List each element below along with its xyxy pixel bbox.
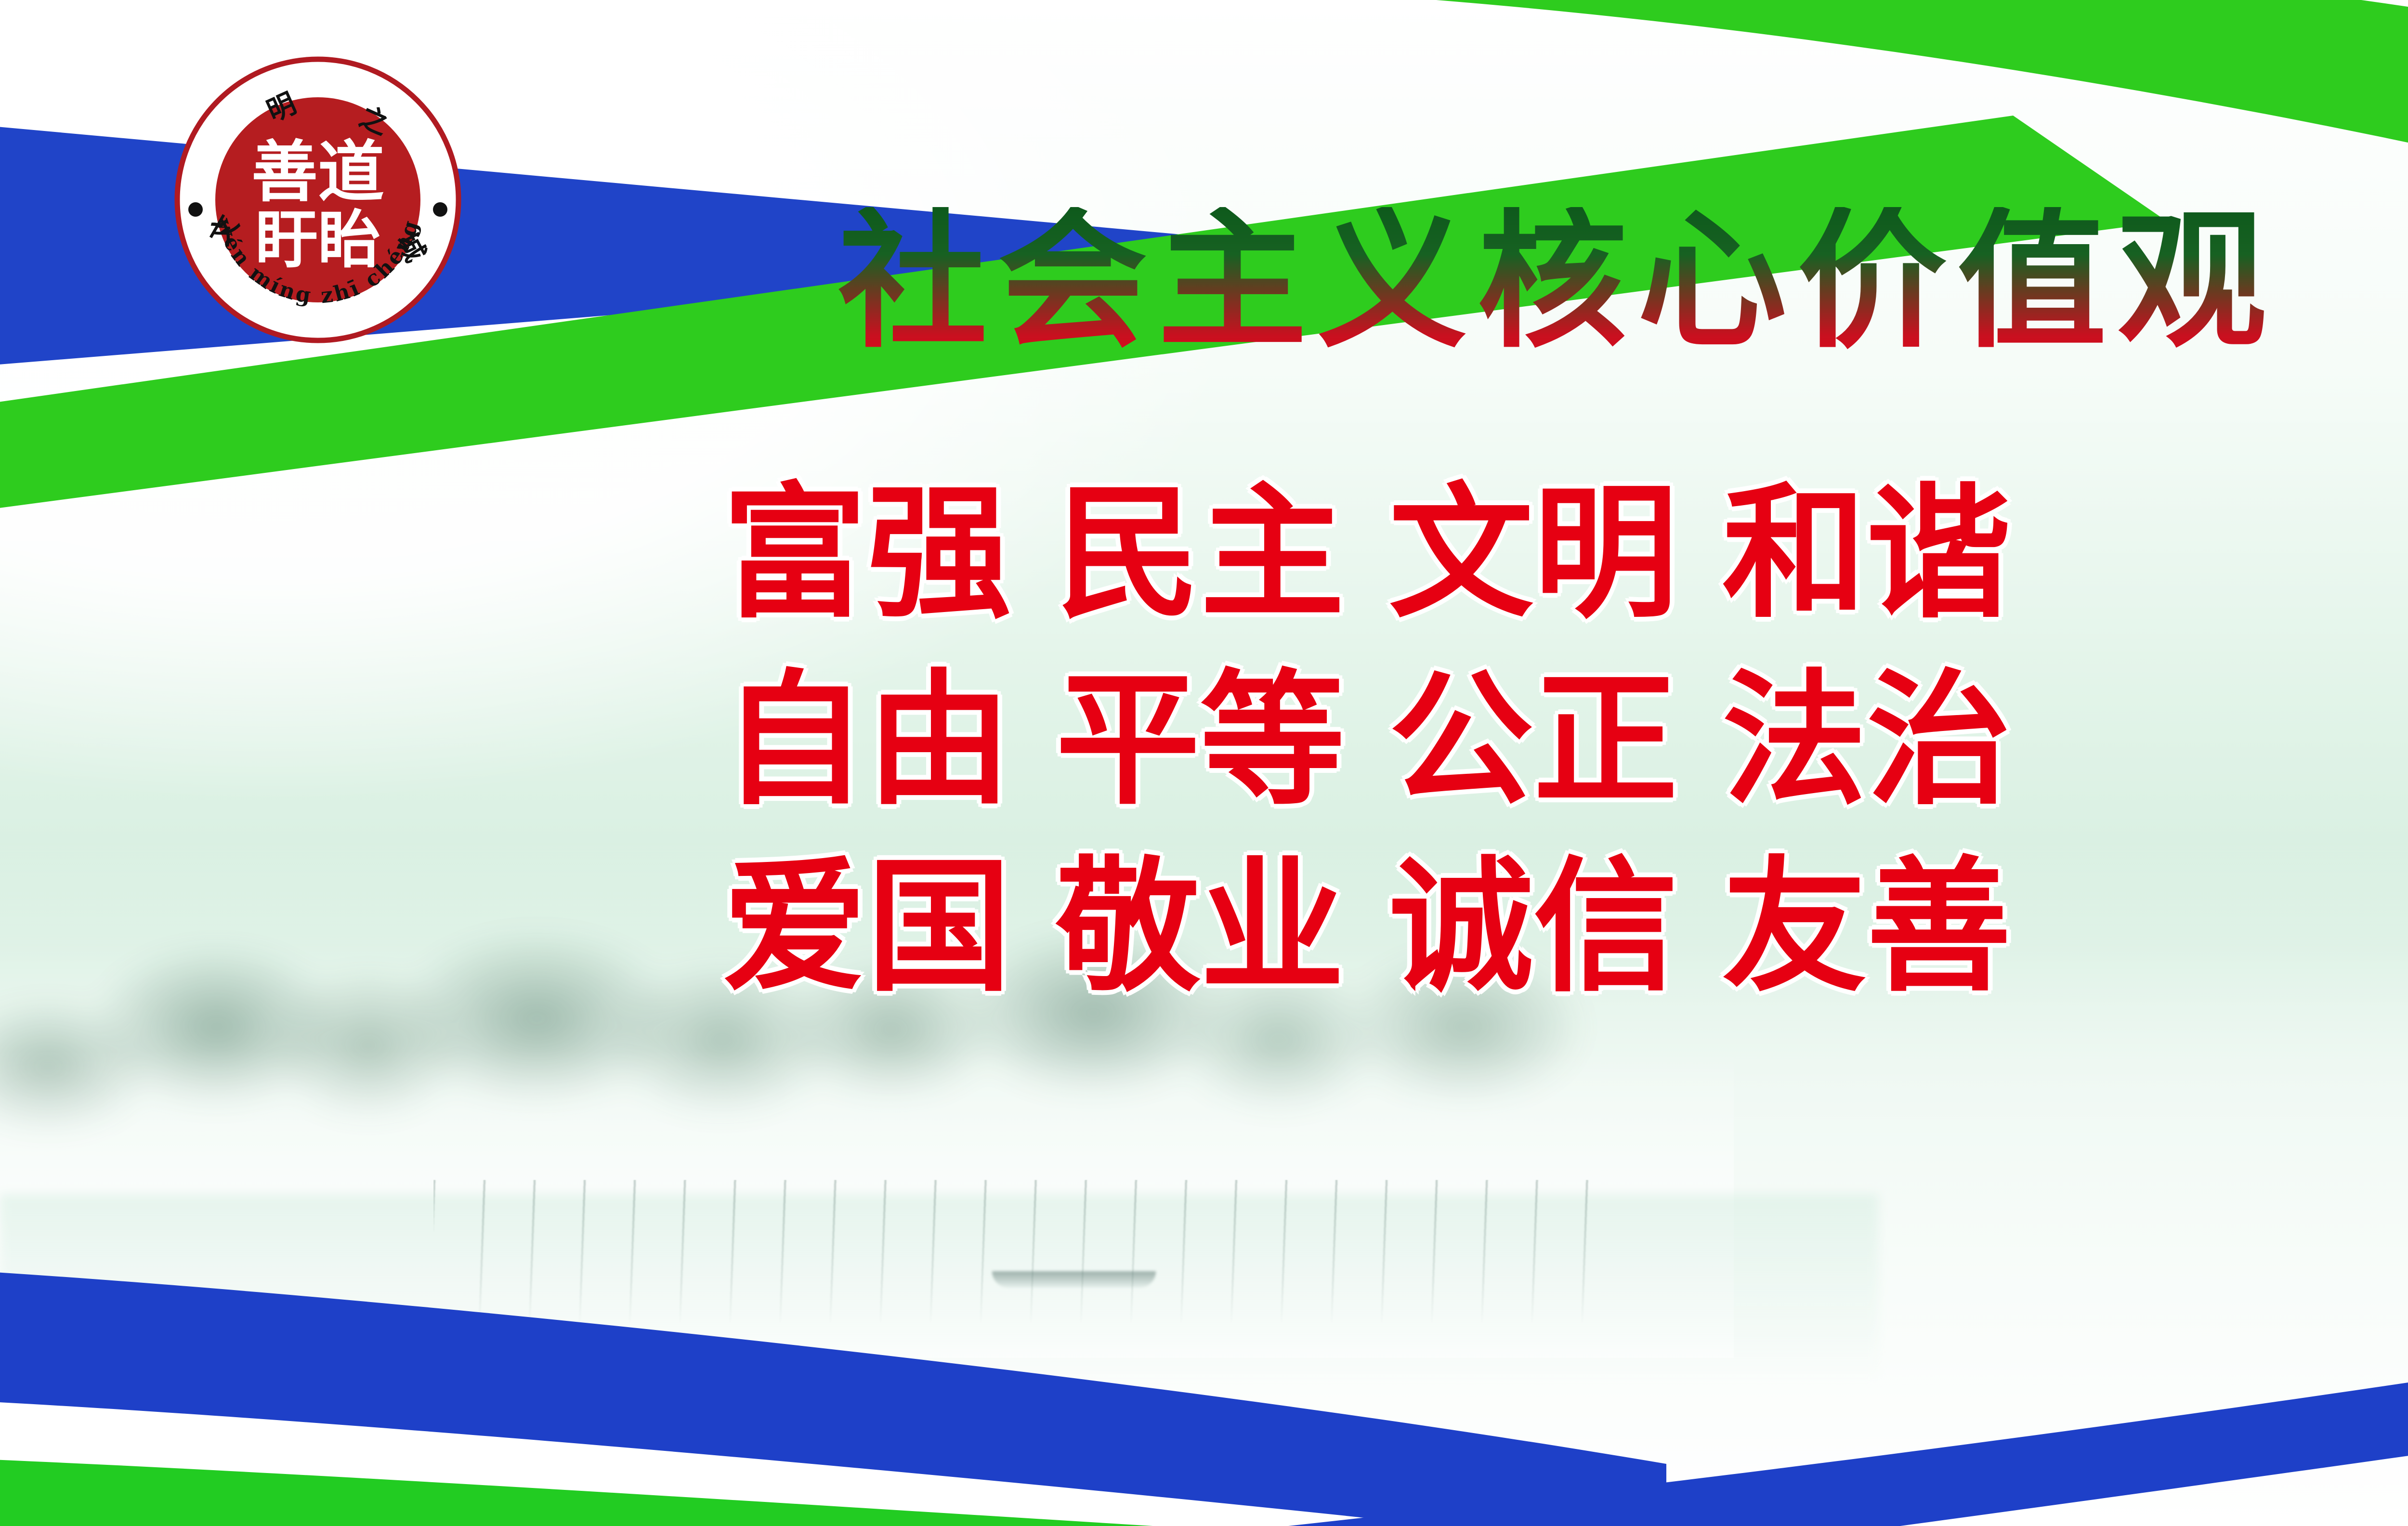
page-title: 社会主义核心价值观 xyxy=(838,207,2277,356)
value-line-1: 富强民主文明和谐 xyxy=(722,482,2408,626)
value-line-3: 爱国敬业诚信友善 xyxy=(722,855,2408,1000)
value-word: 民主 xyxy=(1056,470,1345,638)
value-word: 法治 xyxy=(1722,656,2011,824)
seal-dot-left xyxy=(188,202,203,217)
value-line-2: 自由平等公正法治 xyxy=(722,668,2408,813)
value-word: 文明 xyxy=(1389,470,1678,638)
seal-inner-line1: 善道 xyxy=(251,133,384,211)
boat-silhouette xyxy=(992,1271,1156,1288)
seal-dot-right xyxy=(433,202,447,217)
city-seal-logo: 文 明 之 城 善道 盱眙 wén míng zhī chéng xyxy=(169,51,467,349)
value-word: 公正 xyxy=(1389,656,1678,824)
propaganda-banner: 文 明 之 城 善道 盱眙 wén míng zhī chéng 社会主义核心价… xyxy=(0,0,2408,1526)
value-word: 诚信 xyxy=(1389,843,1678,1011)
value-word: 富强 xyxy=(722,470,1011,638)
value-word: 敬业 xyxy=(1056,843,1345,1011)
seal-inner-line2: 盱眙 xyxy=(255,203,380,276)
value-word: 和谐 xyxy=(1722,470,2011,638)
value-word: 友善 xyxy=(1722,843,2011,1011)
reed-poles xyxy=(433,1180,1589,1324)
value-word: 自由 xyxy=(722,656,1011,824)
value-word: 爱国 xyxy=(722,843,1011,1011)
core-values-block: 富强民主文明和谐 自由平等公正法治 爱国敬业诚信友善 xyxy=(722,482,2408,1042)
value-word: 平等 xyxy=(1056,656,1345,824)
